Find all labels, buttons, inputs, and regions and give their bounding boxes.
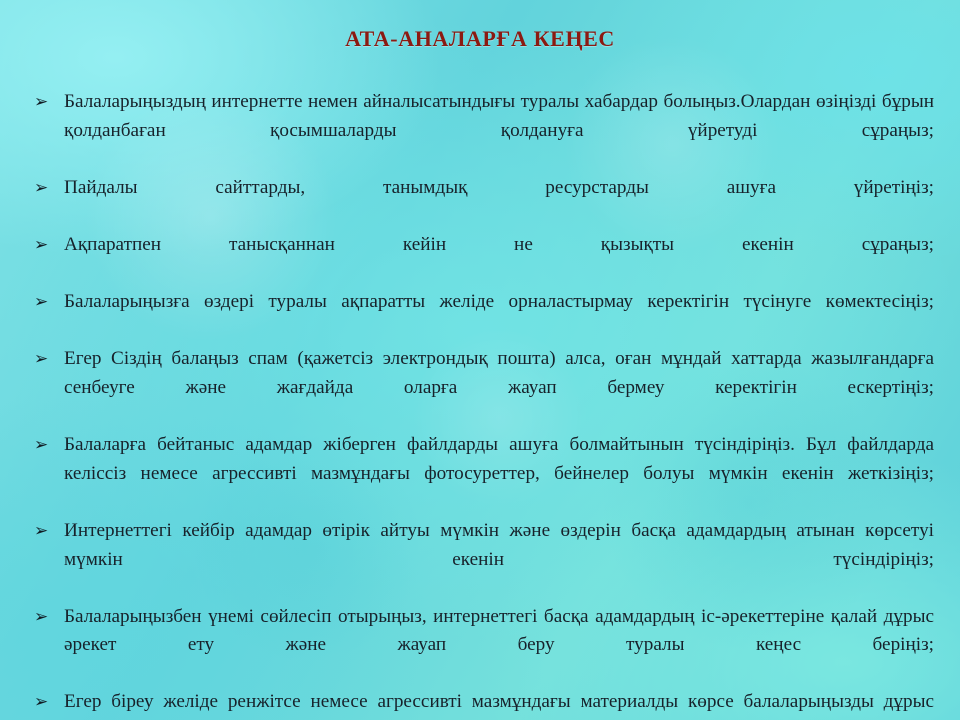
list-item: ➢ Балаларыңызға өздері туралы ақпаратты … [34, 288, 934, 345]
list-item: ➢ Интернеттегі кейбір адамдар өтірік айт… [34, 517, 934, 603]
list-item-text: Балаларыңызбен үнемі сөйлесіп отырыңыз, … [64, 603, 934, 689]
list-item-text: Балаларға бейтаныс адамдар жіберген файл… [64, 431, 934, 517]
list-item-text: Егер біреу желіде ренжітсе немесе агресс… [64, 688, 934, 720]
list-item-text: Балаларыңыздың интернетте немен айналыса… [64, 88, 934, 174]
list-item-text: Балаларыңызға өздері туралы ақпаратты же… [64, 288, 934, 345]
arrow-bullet-icon: ➢ [34, 288, 56, 317]
advice-bullet-list: ➢ Балаларыңыздың интернетте немен айналы… [0, 88, 960, 720]
list-item: ➢ Балаларға бейтаныс адамдар жіберген фа… [34, 431, 934, 517]
arrow-bullet-icon: ➢ [34, 345, 56, 374]
list-item: ➢ Балаларыңыздың интернетте немен айналы… [34, 88, 934, 174]
list-item-text: Ақпаратпен танысқаннан кейін не қызықты … [64, 231, 934, 288]
arrow-bullet-icon: ➢ [34, 431, 56, 460]
page-title: АТА-АНАЛАРҒА КЕҢЕС [0, 0, 960, 52]
list-item-text: Интернеттегі кейбір адамдар өтірік айтуы… [64, 517, 934, 603]
slide-canvas: АТА-АНАЛАРҒА КЕҢЕС ➢ Балаларыңыздың инте… [0, 0, 960, 720]
arrow-bullet-icon: ➢ [34, 517, 56, 546]
list-item-text: Пайдалы сайттарды, танымдық ресурстарды … [64, 174, 934, 231]
arrow-bullet-icon: ➢ [34, 88, 56, 117]
list-item: ➢ Ақпаратпен танысқаннан кейін не қызықт… [34, 231, 934, 288]
list-item: ➢ Пайдалы сайттарды, танымдық ресурстард… [34, 174, 934, 231]
list-item: ➢ Егер біреу желіде ренжітсе немесе агре… [34, 688, 934, 720]
list-item-text: Егер Сіздің балаңыз спам (қажетсіз элект… [64, 345, 934, 431]
arrow-bullet-icon: ➢ [34, 231, 56, 260]
list-item: ➢ Егер Сіздің балаңыз спам (қажетсіз эле… [34, 345, 934, 431]
arrow-bullet-icon: ➢ [34, 688, 56, 717]
list-item: ➢ Балаларыңызбен үнемі сөйлесіп отырыңыз… [34, 603, 934, 689]
arrow-bullet-icon: ➢ [34, 603, 56, 632]
arrow-bullet-icon: ➢ [34, 174, 56, 203]
